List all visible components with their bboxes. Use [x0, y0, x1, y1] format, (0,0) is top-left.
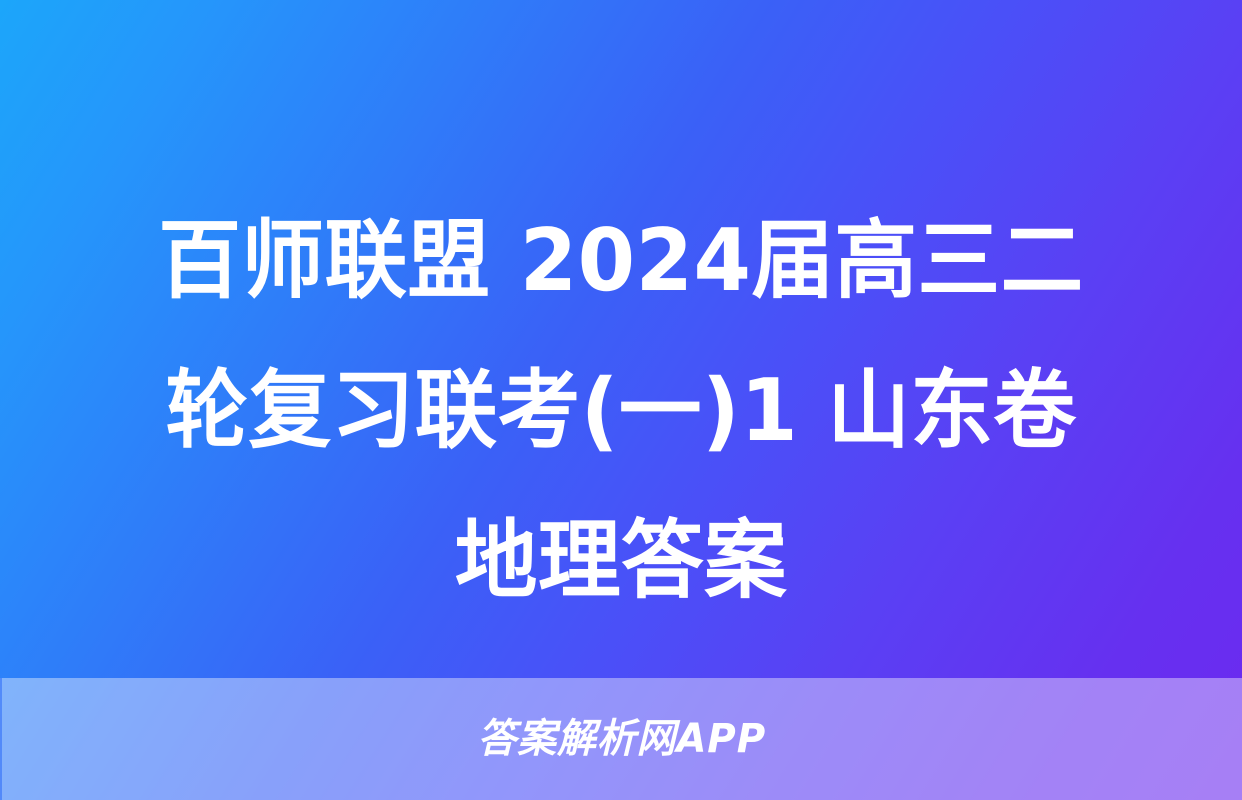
poster-title-line-2: 轮复习联考(一)1 山东卷	[100, 336, 1143, 486]
poster-canvas: 百师联盟 2024届高三二 轮复习联考(一)1 山东卷 地理答案 答案解析网AP…	[0, 0, 1242, 800]
footer-brand-label: 答案解析网APP	[478, 719, 767, 759]
poster-title-line-1: 百师联盟 2024届高三二	[100, 186, 1143, 336]
poster-title-block: 百师联盟 2024届高三二 轮复习联考(一)1 山东卷 地理答案	[0, 186, 1242, 636]
footer-brand-band: 答案解析网APP	[0, 678, 1242, 800]
poster-title-line-3: 地理答案	[100, 486, 1143, 636]
